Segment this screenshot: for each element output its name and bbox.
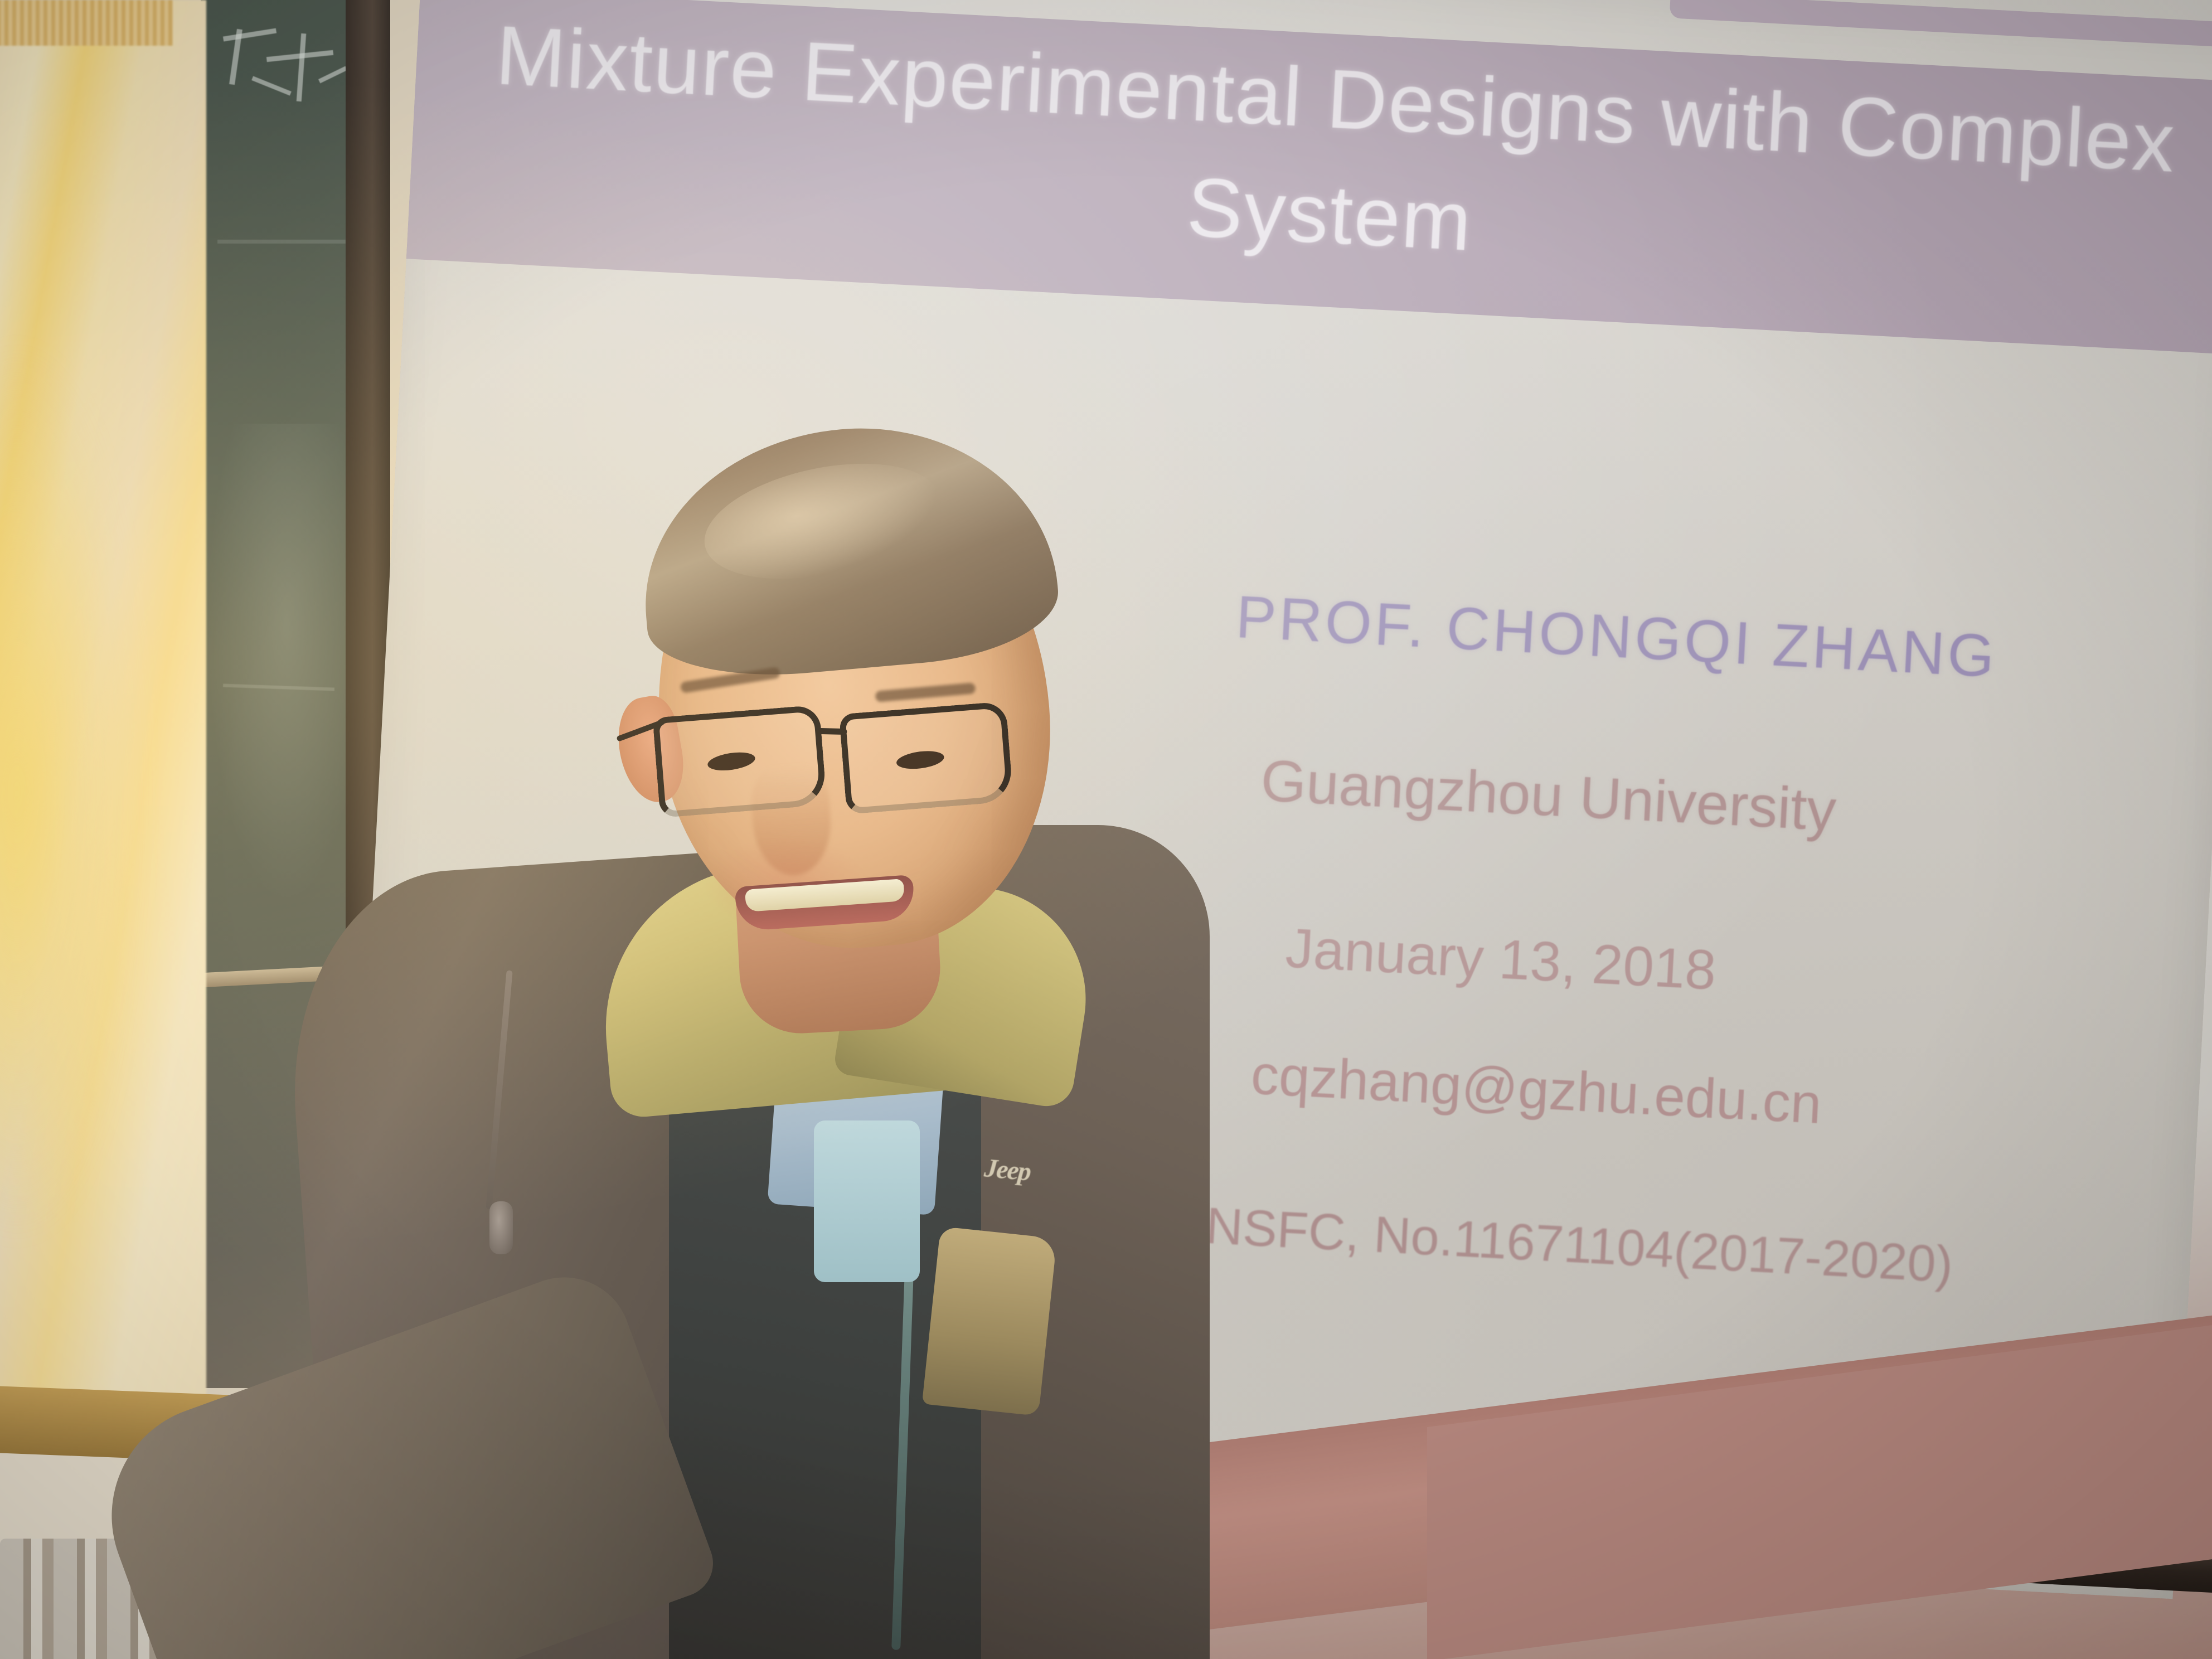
sunlight-glow: [0, 346, 134, 1238]
slide-affiliation: Guangzhou University: [1259, 748, 2212, 870]
shirt-inner: [814, 1120, 920, 1282]
curtain-header-tape: [0, 0, 173, 46]
chalk-writing-stroke: [297, 33, 306, 101]
slide-email: cqzhang@gzhu.edu.cn: [1249, 1043, 2212, 1162]
lecture-photo-scene: Mixture Experimental Designs with Comple…: [0, 0, 2212, 1659]
eyeglasses-bridge: [818, 728, 847, 735]
slide-date: January 13, 2018: [1284, 916, 2212, 1036]
slide-presenter-name: PROF. CHONGQI ZHANG: [1234, 581, 2212, 706]
chalk-writing-stroke: [217, 240, 346, 244]
chalk-writing-stroke: [223, 28, 276, 42]
jacket-drawstring-toggle: [489, 1201, 513, 1254]
jacket-chest-pocket: [922, 1226, 1057, 1416]
chalk-writing-stroke: [251, 76, 292, 95]
presenter: Jeep: [312, 546, 1332, 1659]
chalk-writing-stroke: [318, 66, 347, 84]
